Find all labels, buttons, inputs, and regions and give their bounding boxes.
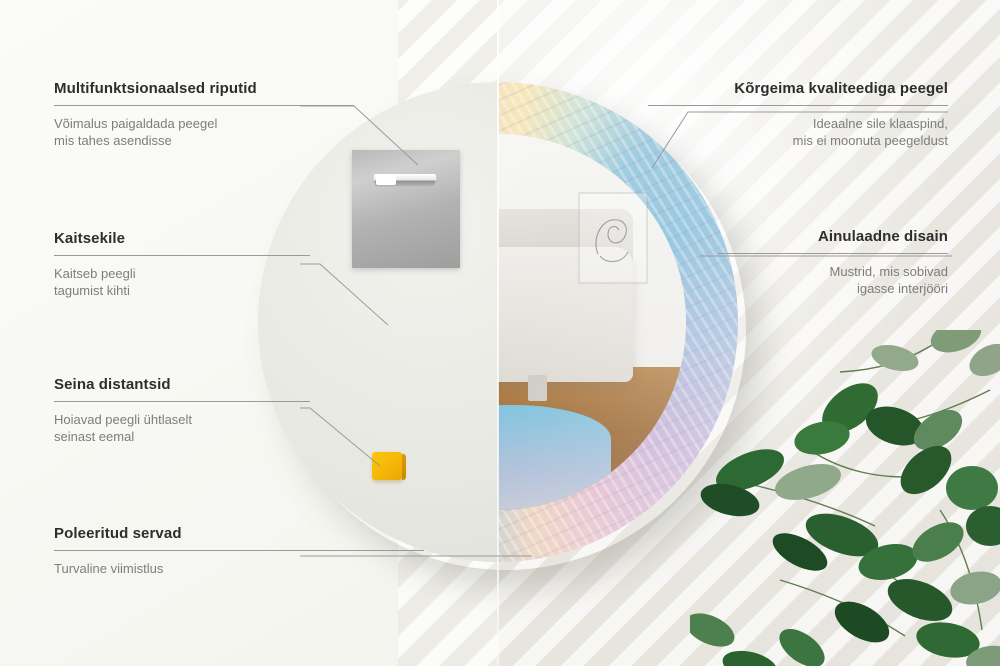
callout-description: Mustrid, mis sobivad igasse interjööri [718,263,948,297]
callout-title: Poleeritud servad [54,525,424,542]
callout-title: Ainulaadne disain [718,228,948,245]
callout-description: Võimalus paigaldada peegel mis tahes ase… [54,115,354,149]
callout-title: Kaitsekile [54,230,310,247]
leader-line-wall-spacers [300,400,500,480]
callout-title: Multifunktsionaalsed riputid [54,80,354,97]
callout-kaitsekile: Kaitsekile Kaitseb peegli tagumist kihti [54,230,310,299]
callout-ainulaadne-disain: Ainulaadne disain Mustrid, mis sobivad i… [718,228,948,297]
callout-description: Kaitseb peegli tagumist kihti [54,265,310,299]
foliage-decoration [690,330,1000,666]
callout-rule [54,401,310,402]
callout-korgeima-kvaliteediga-peegel: Kõrgeima kvaliteediga peegel Ideaalne si… [648,80,948,149]
callout-description: Ideaalne sile klaaspind, mis ei moonuta … [648,115,948,149]
callout-rule [718,253,948,254]
etched-logo-watermark [578,192,648,284]
callout-rule [54,550,424,551]
leader-line-protective-film [300,255,500,345]
callout-title: Seina distantsid [54,376,310,393]
callout-rule [54,255,310,256]
callout-description: Hoiavad peegli ühtlaselt seinast eemal [54,411,310,445]
callout-poleeritud-servad: Poleeritud servad Turvaline viimistlus [54,525,424,577]
callout-description: Turvaline viimistlus [54,560,424,577]
callout-rule [54,105,354,106]
infographic-canvas: Multifunktsionaalsed riputid Võimalus pa… [0,0,1000,666]
callout-rule [648,105,948,106]
callout-multifunktsionaalsed-riputid: Multifunktsionaalsed riputid Võimalus pa… [54,80,354,149]
callout-seina-distantsid: Seina distantsid Hoiavad peegli ühtlasel… [54,376,310,445]
callout-title: Kõrgeima kvaliteediga peegel [648,80,948,97]
